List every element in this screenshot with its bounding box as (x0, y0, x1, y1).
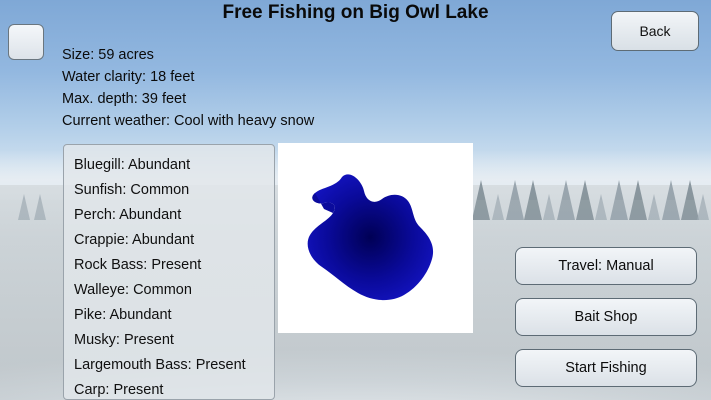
stat-water-clarity: Water clarity: 18 feet (62, 66, 314, 88)
action-button-group: Travel: Manual Bait Shop Start Fishing (515, 247, 697, 400)
list-item: Sunfish: Common (74, 178, 264, 203)
list-item: Carp: Present (74, 378, 264, 400)
start-fishing-button[interactable]: Start Fishing (515, 349, 697, 387)
fish-species-panel[interactable]: Bluegill: Abundant Sunfish: Common Perch… (63, 144, 275, 400)
stat-size: Size: 59 acres (62, 44, 314, 66)
stat-max-depth: Max. depth: 39 feet (62, 88, 314, 110)
lake-stats: Size: 59 acres Water clarity: 18 feet Ma… (62, 44, 314, 132)
stat-current-weather: Current weather: Cool with heavy snow (62, 110, 314, 132)
lake-map[interactable] (278, 143, 473, 333)
list-item: Perch: Abundant (74, 203, 264, 228)
list-item: Largemouth Bass: Present (74, 353, 264, 378)
game-screen: Free Fishing on Big Owl Lake Back Size: … (0, 0, 711, 400)
list-item: Pike: Abundant (74, 303, 264, 328)
back-button[interactable]: Back (611, 11, 699, 51)
list-item: Crappie: Abundant (74, 228, 264, 253)
lake-shape-icon (278, 143, 473, 333)
list-item: Bluegill: Abundant (74, 153, 264, 178)
page-title: Free Fishing on Big Owl Lake (0, 2, 711, 24)
corner-panel-box[interactable] (8, 24, 44, 60)
list-item: Musky: Present (74, 328, 264, 353)
list-item: Rock Bass: Present (74, 253, 264, 278)
bait-shop-button[interactable]: Bait Shop (515, 298, 697, 336)
list-item: Walleye: Common (74, 278, 264, 303)
travel-mode-button[interactable]: Travel: Manual (515, 247, 697, 285)
